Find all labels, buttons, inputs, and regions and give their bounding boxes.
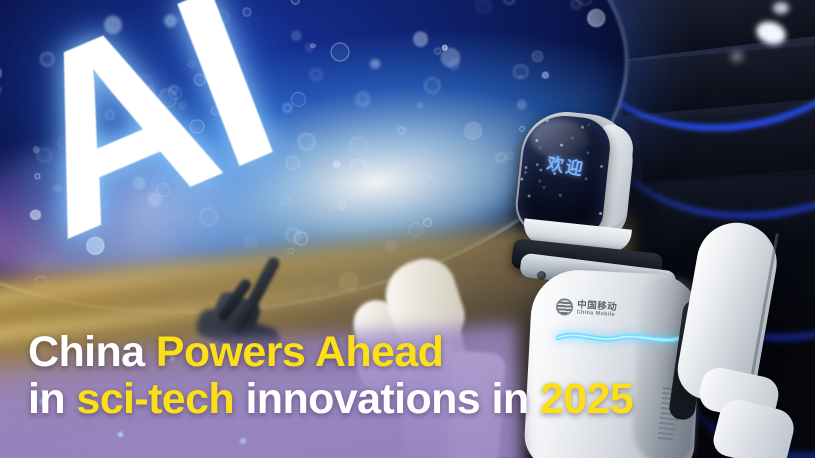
headline-line-1: China Powers Ahead [28,329,798,376]
robot-bolt [537,271,546,280]
headline-segment-yellow: 2025 [540,375,633,423]
headline-segment-yellow: Powers Ahead [156,328,444,376]
headline-line-2: in sci-tech innovations in 2025 [28,376,798,423]
headline-caption: China Powers Ahead in sci-tech innovatio… [28,329,798,423]
news-banner-image: AI 欢迎 中国移动 Chi [0,0,815,458]
headline-segment-white: in [28,375,76,423]
headline-segment-white: innovations in [245,375,539,423]
china-mobile-mark-icon [555,298,573,316]
bokeh-sparkle [240,438,246,444]
headline-segment-white: China [28,328,156,376]
headline-segment-yellow: sci-tech [76,375,245,423]
china-mobile-wordmark: 中国移动 China Mobile [576,300,617,318]
bokeh-sparkle [118,432,123,437]
